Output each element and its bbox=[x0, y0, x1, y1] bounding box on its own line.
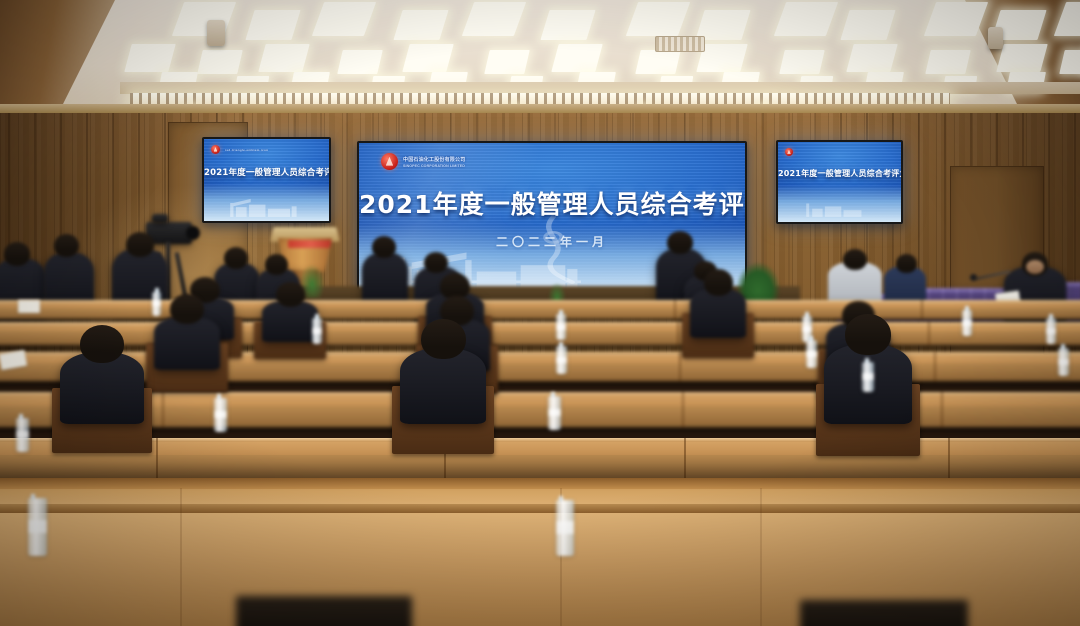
water-bottle bbox=[548, 396, 561, 430]
ceiling-light-panel bbox=[402, 44, 454, 72]
side-screen-left-title: 2021年度一般管理人员综合考评大会 bbox=[204, 166, 329, 178]
attendee-head bbox=[704, 269, 733, 296]
desk-seam bbox=[941, 392, 943, 428]
screen-logo-left: red-triangle-emblem-icon bbox=[211, 145, 268, 154]
screen-logo-main: 中国石油化工股份有限公司 SINOPEC CORPORATION LIMITED bbox=[381, 153, 465, 170]
ceiling-light-panel bbox=[840, 10, 895, 40]
factory-silhouette-graphic bbox=[798, 196, 873, 218]
attendee-head bbox=[265, 254, 288, 275]
side-screen-right: 2021年度一般管理人员综合考评大会 bbox=[776, 140, 903, 224]
ceiling-light-panel bbox=[774, 2, 838, 36]
ceiling-light-panel bbox=[462, 2, 526, 36]
ceiling-light-panel bbox=[484, 50, 530, 74]
desk-seam bbox=[180, 488, 182, 626]
water-bottle bbox=[312, 318, 322, 344]
water-bottle bbox=[556, 314, 566, 340]
wall-cornice bbox=[0, 104, 1080, 113]
ceiling-light-panel bbox=[337, 50, 383, 74]
attendee-head bbox=[4, 242, 30, 266]
ceiling-light-panel bbox=[925, 50, 971, 74]
desk-seam bbox=[679, 352, 681, 382]
ceiling-left-soffit bbox=[0, 0, 120, 120]
water-bottle bbox=[28, 498, 47, 556]
water-bottle bbox=[214, 398, 227, 432]
desk-seam bbox=[928, 322, 930, 346]
desk-seam bbox=[674, 300, 676, 320]
attendee-torso bbox=[60, 352, 144, 424]
ceiling-light-panel bbox=[779, 50, 825, 74]
water-bottle bbox=[1058, 348, 1069, 376]
ceiling bbox=[0, 0, 1080, 120]
water-bottle bbox=[962, 310, 972, 336]
ceiling-speaker bbox=[207, 20, 225, 46]
ceiling-light-panel bbox=[245, 10, 300, 40]
attendee-head bbox=[667, 231, 693, 254]
camera-viewfinder bbox=[152, 214, 168, 223]
desk-seam bbox=[760, 488, 762, 626]
attendee-head bbox=[372, 236, 396, 258]
ceiling-light-panel bbox=[258, 44, 310, 72]
foreground-chair bbox=[236, 596, 412, 626]
ceiling-light-panel bbox=[924, 2, 988, 36]
side-screen-left: red-triangle-emblem-icon 2021年度一般管理人员综合考… bbox=[202, 137, 331, 223]
desk-seam bbox=[162, 392, 164, 428]
ceiling-light-panel bbox=[393, 10, 448, 40]
podium-banner bbox=[288, 240, 334, 248]
desk-seam bbox=[934, 352, 936, 382]
ceiling-light-panel bbox=[124, 44, 176, 72]
ceiling-light-panel bbox=[197, 50, 243, 74]
attendee-head bbox=[224, 247, 248, 269]
side-screen-right-title: 2021年度一般管理人员综合考评大会 bbox=[778, 168, 901, 179]
ceiling-light-panel bbox=[996, 44, 1048, 72]
red-triangle-emblem-icon bbox=[381, 153, 398, 170]
water-bottle bbox=[152, 292, 161, 316]
foreground-desk-rail bbox=[0, 504, 1080, 513]
water-bottle bbox=[862, 362, 874, 392]
ceiling-light-panel bbox=[172, 2, 236, 36]
attendee-head bbox=[80, 325, 124, 363]
water-bottle bbox=[556, 500, 574, 556]
screen-logo-line2: SINOPEC CORPORATION LIMITED bbox=[403, 164, 465, 168]
ceiling-speaker bbox=[988, 27, 1003, 49]
desk-seam bbox=[156, 438, 158, 482]
desk-seam bbox=[677, 322, 679, 346]
foreground-desk-edge bbox=[0, 478, 1080, 489]
red-triangle-emblem-icon bbox=[211, 145, 220, 154]
ceiling-light-panel bbox=[551, 44, 603, 72]
attendee-head bbox=[276, 282, 305, 307]
factory-silhouette-graphic bbox=[222, 194, 304, 219]
screen-logo-right bbox=[785, 148, 793, 156]
table-row bbox=[0, 300, 1080, 320]
ceiling-light-panel bbox=[540, 10, 595, 40]
water-bottle bbox=[806, 340, 817, 368]
screen-logo-line1: 中国石油化工股份有限公司 bbox=[403, 156, 465, 163]
ceiling-light-panel bbox=[635, 50, 681, 74]
air-vent-icon bbox=[655, 36, 705, 52]
attendee-head bbox=[843, 249, 867, 270]
water-bottle bbox=[16, 418, 29, 452]
attendee-head bbox=[421, 319, 466, 359]
desk-seam bbox=[948, 438, 950, 482]
camera-lens-icon bbox=[186, 226, 200, 240]
red-triangle-emblem-icon bbox=[785, 148, 793, 156]
attendee-torso bbox=[400, 348, 486, 424]
attendee-head bbox=[424, 252, 448, 273]
screen-logo-line1: red-triangle-emblem-icon bbox=[225, 148, 268, 152]
desk-edge bbox=[0, 300, 1080, 304]
ceiling-light-panel bbox=[312, 2, 376, 36]
camera-operator-head bbox=[126, 232, 154, 257]
document-on-desk bbox=[18, 300, 40, 313]
main-screen-title: 2021年度一般管理人员综合考评大会 bbox=[359, 185, 745, 221]
ceiling-light-panel bbox=[846, 44, 898, 72]
water-bottle bbox=[556, 346, 567, 374]
speaker-face bbox=[1026, 260, 1044, 274]
microphone-head-icon bbox=[970, 274, 977, 281]
ceiling-light-panel bbox=[626, 2, 690, 36]
desk-seam bbox=[684, 438, 686, 482]
attendee-head bbox=[54, 234, 79, 257]
attendee-head bbox=[170, 294, 204, 324]
attendee-head bbox=[896, 254, 917, 273]
water-bottle bbox=[1046, 318, 1056, 344]
desk-seam bbox=[682, 392, 684, 428]
conference-room-photo: red-triangle-emblem-icon 2021年度一般管理人员综合考… bbox=[0, 0, 1080, 626]
attendee-head bbox=[845, 314, 891, 355]
desk-seam bbox=[921, 300, 923, 320]
attendee-torso bbox=[154, 316, 220, 370]
foreground-chair bbox=[800, 600, 968, 626]
